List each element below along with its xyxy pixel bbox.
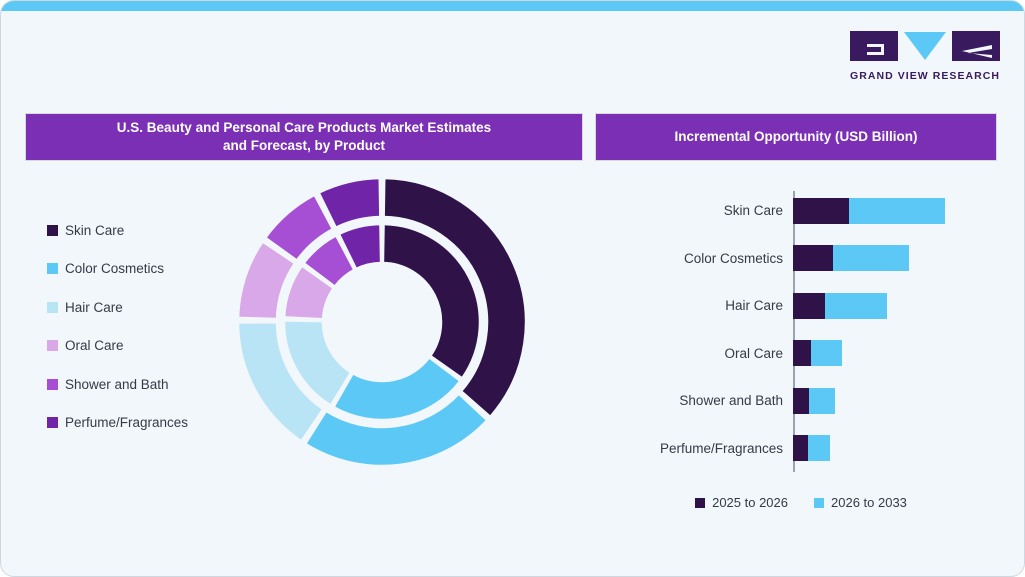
right-chart-title: Incremental Opportunity (USD Billion) — [595, 113, 997, 161]
bar-segment-2025-2026 — [793, 245, 833, 271]
bar-category-label: Oral Care — [601, 346, 793, 361]
right-chart-title-text: Incremental Opportunity (USD Billion) — [674, 128, 917, 146]
bar-segment-2026-2033 — [808, 435, 830, 461]
bar-legend-swatch — [695, 498, 705, 508]
bar-segment-2025-2026 — [793, 435, 808, 461]
pie-legend-label: Oral Care — [65, 338, 124, 353]
bar-legend-swatch — [814, 498, 824, 508]
left-chart-title-line1: U.S. Beauty and Personal Care Products M… — [117, 120, 491, 135]
bar-category-label: Skin Care — [601, 203, 793, 218]
bar-row: Shower and Bath — [601, 377, 1001, 425]
accent-top-bar — [1, 1, 1024, 11]
bar-segment-2026-2033 — [809, 388, 835, 414]
pie-legend-item: Skin Care — [47, 211, 237, 250]
infographic-frame: GRAND VIEW RESEARCH U.S. Beauty and Pers… — [0, 0, 1025, 577]
bar-legend-label: 2026 to 2033 — [831, 495, 907, 510]
bar-segment-2026-2033 — [825, 293, 887, 319]
bar-row: Skin Care — [601, 187, 1001, 235]
pie-legend-swatch — [47, 302, 58, 313]
bar-legend-label: 2025 to 2026 — [712, 495, 788, 510]
brand-logo: GRAND VIEW RESEARCH — [850, 29, 1000, 82]
bar-legend-item: 2025 to 2026 — [695, 495, 788, 510]
pie-legend-label: Hair Care — [65, 300, 123, 315]
bar-track — [793, 330, 1001, 378]
product-share-donut-chart — [237, 177, 527, 467]
bar-category-label: Color Cosmetics — [601, 251, 793, 266]
gvr-logo-icon — [850, 29, 1000, 65]
brand-logo-text: GRAND VIEW RESEARCH — [850, 70, 1000, 82]
bar-segment-2025-2026 — [793, 198, 849, 224]
bar-track — [793, 282, 1001, 330]
pie-legend-item: Oral Care — [47, 327, 237, 366]
bar-row: Color Cosmetics — [601, 235, 1001, 283]
bar-segment-2026-2033 — [849, 198, 945, 224]
pie-legend-swatch — [47, 225, 58, 236]
pie-legend: Skin CareColor CosmeticsHair CareOral Ca… — [47, 211, 237, 442]
pie-legend-swatch — [47, 417, 58, 428]
bar-segment-2026-2033 — [811, 340, 842, 366]
pie-legend-label: Perfume/Fragrances — [65, 415, 188, 430]
pie-legend-label: Color Cosmetics — [65, 261, 164, 276]
bar-segment-2025-2026 — [793, 388, 809, 414]
bar-segment-2026-2033 — [833, 245, 909, 271]
bar-segment-2025-2026 — [793, 340, 811, 366]
bar-row: Perfume/Fragrances — [601, 425, 1001, 473]
bar-segment-2025-2026 — [793, 293, 825, 319]
bar-track — [793, 187, 1001, 235]
bar-category-label: Shower and Bath — [601, 393, 793, 408]
pie-legend-label: Skin Care — [65, 223, 124, 238]
bar-category-label: Hair Care — [601, 298, 793, 313]
bar-row: Hair Care — [601, 282, 1001, 330]
bar-track — [793, 425, 1001, 473]
pie-legend-item: Hair Care — [47, 288, 237, 327]
bar-row: Oral Care — [601, 330, 1001, 378]
left-chart-title-line2: and Forecast, by Product — [223, 138, 385, 153]
left-chart-title: U.S. Beauty and Personal Care Products M… — [25, 113, 583, 161]
incremental-opportunity-bar-chart: Skin CareColor CosmeticsHair CareOral Ca… — [601, 187, 1001, 477]
bar-track — [793, 377, 1001, 425]
bar-legend-item: 2026 to 2033 — [814, 495, 907, 510]
pie-legend-swatch — [47, 340, 58, 351]
pie-legend-item: Perfume/Fragrances — [47, 404, 237, 443]
bar-chart-legend: 2025 to 20262026 to 2033 — [601, 495, 1001, 510]
pie-legend-swatch — [47, 379, 58, 390]
pie-legend-item: Shower and Bath — [47, 365, 237, 404]
bar-category-label: Perfume/Fragrances — [601, 441, 793, 456]
pie-legend-label: Shower and Bath — [65, 377, 169, 392]
pie-legend-item: Color Cosmetics — [47, 250, 237, 289]
bar-track — [793, 235, 1001, 283]
pie-legend-swatch — [47, 263, 58, 274]
